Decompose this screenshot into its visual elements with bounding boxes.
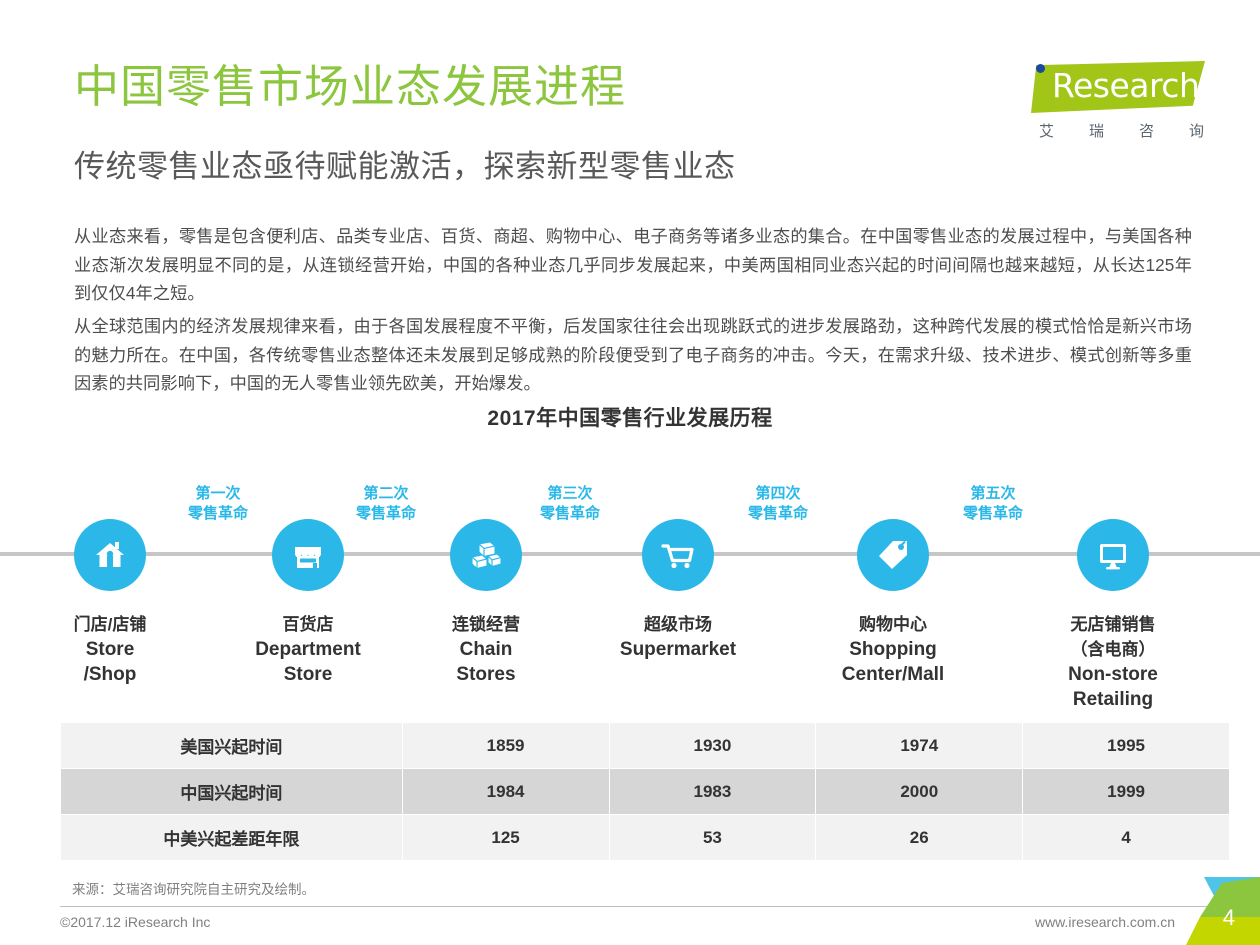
copyright-text: ©2017.12 iResearch Inc (60, 914, 210, 930)
table-cell: 1859 (402, 723, 609, 769)
category-chain-stores: 连锁经营 Chain Stores (388, 612, 584, 687)
table-cell: 1974 (816, 723, 1023, 769)
footer-divider (60, 906, 1210, 907)
category-supermarket: 超级市场 Supermarket (580, 612, 776, 662)
row-label: 中国兴起时间 (61, 769, 403, 815)
category-non-store: 无店铺销售 （含电商） Non-store Retailing (1015, 612, 1211, 712)
category-en-label-line1: Store (12, 637, 208, 662)
timeline-axis-line (0, 552, 1260, 556)
retail-timeline: 门店/店铺 Store /Shop 第一次 零售革命 (0, 470, 1260, 720)
revolution-label-2-text: 第二次 零售革命 (288, 484, 484, 524)
page-number: 4 (1223, 905, 1235, 931)
category-en-label-line2: Stores (388, 662, 584, 687)
category-en-label-line1: Supermarket (580, 637, 776, 662)
table-cell: 26 (816, 815, 1023, 861)
logo-cn-char-4: 询 (1189, 120, 1205, 141)
category-en-label-line1: Non-store (1015, 662, 1211, 687)
page-title: 中国零售市场业态发展进程 (74, 62, 626, 112)
body-paragraph-1: 从业态来看，零售是包含便利店、品类专业店、百货、商超、购物中心、电子商务等诸多业… (74, 222, 1192, 308)
category-cn-label: 门店/店铺 (12, 612, 208, 637)
table-row: 美国兴起时间 1859 1930 1974 1995 (61, 723, 1230, 769)
logo-mark: Research (1005, 58, 1205, 114)
category-en-label-line1: Department (210, 637, 406, 662)
monitor-icon (1077, 519, 1149, 591)
category-cn-label: 购物中心 (795, 612, 991, 637)
revolution-1-line2: 零售革命 (120, 504, 316, 524)
table-row: 中国兴起时间 1984 1983 2000 1999 (61, 769, 1230, 815)
table-cell: 125 (402, 815, 609, 861)
logo-cn-char-3: 咨 (1139, 120, 1155, 141)
logo-cn-char-1: 艾 (1039, 120, 1055, 141)
category-store: 门店/店铺 Store /Shop (12, 612, 208, 687)
revolution-label-4-text: 第四次 零售革命 (680, 484, 876, 524)
storefront-icon (272, 519, 344, 591)
revolution-label-5-text: 第五次 零售革命 (895, 484, 1091, 524)
row-label: 美国兴起时间 (61, 723, 403, 769)
source-note: 来源：艾瑞咨询研究院自主研究及绘制。 (72, 878, 315, 898)
revolution-label-3-text: 第三次 零售革命 (472, 484, 668, 524)
retail-milestones-table: 美国兴起时间 1859 1930 1974 1995 中国兴起时间 1984 1… (60, 722, 1230, 861)
table-cell: 4 (1023, 815, 1230, 861)
revolution-1-line1: 第一次 (120, 484, 316, 504)
category-cn-label-line2: （含电商） (1015, 637, 1211, 662)
category-en-label-line2: Center/Mall (795, 662, 991, 687)
house-icon (74, 519, 146, 591)
table-cell: 1999 (1023, 769, 1230, 815)
chart-title: 2017年中国零售行业发展历程 (0, 402, 1260, 432)
revolution-4-line2: 零售革命 (680, 504, 876, 524)
iresearch-logo: Research 艾 瑞 咨 询 (1005, 58, 1205, 144)
table-row: 中美兴起差距年限 125 53 26 4 (61, 815, 1230, 861)
body-paragraph-2: 从全球范围内的经济发展规律来看，由于各国发展程度不平衡，后发国家往往会出现跳跃式… (74, 312, 1192, 398)
category-cn-label-line1: 无店铺销售 (1015, 612, 1211, 637)
boxes-icon (450, 519, 522, 591)
logo-i-stem-icon (1036, 77, 1045, 108)
category-en-label-line1: Chain (388, 637, 584, 662)
category-shopping-center: 购物中心 Shopping Center/Mall (795, 612, 991, 687)
revolution-5-line2: 零售革命 (895, 504, 1091, 524)
table-cell: 53 (609, 815, 816, 861)
website-url[interactable]: www.iresearch.com.cn (1035, 914, 1175, 930)
revolution-4-line1: 第四次 (680, 484, 876, 504)
category-en-label-line2: Retailing (1015, 687, 1211, 712)
category-cn-label: 连锁经营 (388, 612, 584, 637)
category-cn-label: 超级市场 (580, 612, 776, 637)
corner-decoration (1160, 877, 1260, 945)
page-subtitle: 传统零售业态亟待赋能激活，探索新型零售业态 (74, 150, 736, 185)
table-cell: 1983 (609, 769, 816, 815)
shopping-cart-icon (642, 519, 714, 591)
logo-i-dot-icon (1036, 64, 1045, 73)
table-cell: 1930 (609, 723, 816, 769)
revolution-3-line1: 第三次 (472, 484, 668, 504)
row-label: 中美兴起差距年限 (61, 815, 403, 861)
category-en-label-line2: Store (210, 662, 406, 687)
table-cell: 1995 (1023, 723, 1230, 769)
logo-chinese-name: 艾 瑞 咨 询 (1039, 120, 1205, 141)
table-cell: 2000 (816, 769, 1023, 815)
category-department-store: 百货店 Department Store (210, 612, 406, 687)
table-cell: 1984 (402, 769, 609, 815)
logo-cn-char-2: 瑞 (1089, 120, 1105, 141)
table-body: 美国兴起时间 1859 1930 1974 1995 中国兴起时间 1984 1… (61, 723, 1230, 861)
price-tag-icon (857, 519, 929, 591)
logo-wordmark: Research (1052, 66, 1199, 105)
revolution-label-1-text: 第一次 零售革命 (120, 484, 316, 524)
slide-page: 中国零售市场业态发展进程 传统零售业态亟待赋能激活，探索新型零售业态 Resea… (0, 0, 1260, 945)
revolution-3-line2: 零售革命 (472, 504, 668, 524)
revolution-2-line2: 零售革命 (288, 504, 484, 524)
category-en-label-line1: Shopping (795, 637, 991, 662)
revolution-5-line1: 第五次 (895, 484, 1091, 504)
category-cn-label: 百货店 (210, 612, 406, 637)
category-en-label-line2: /Shop (12, 662, 208, 687)
revolution-2-line1: 第二次 (288, 484, 484, 504)
